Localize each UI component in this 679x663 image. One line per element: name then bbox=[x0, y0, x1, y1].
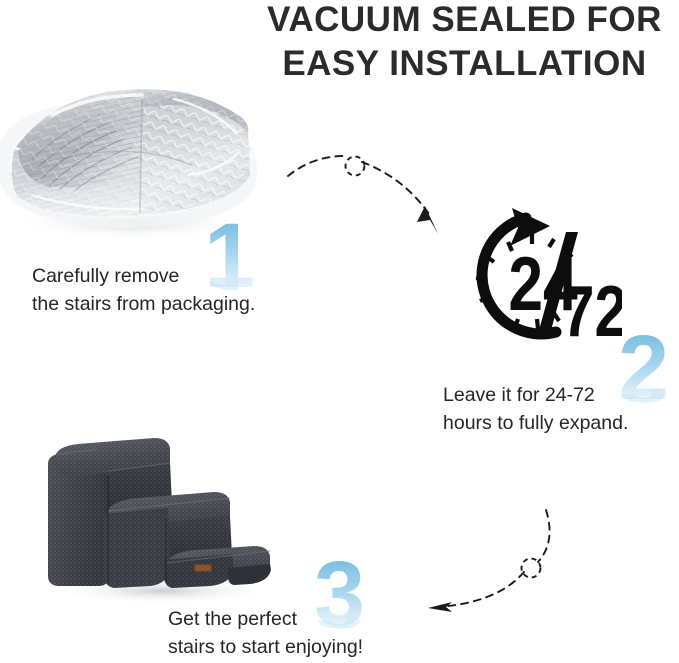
page-title: VACUUM SEALED FOR EASY INSTALLATION bbox=[250, 0, 679, 86]
step-2-caption-line-2: hours to fully expand. bbox=[443, 409, 628, 437]
product-brand-tag bbox=[194, 564, 212, 572]
clock-24-72-icon: 24 72 bbox=[446, 206, 622, 348]
step-2-caption-line-1: Leave it for 24-72 bbox=[443, 381, 628, 409]
step-3-caption-line-2: stairs to start enjoying! bbox=[168, 633, 363, 661]
step-2-caption: Leave it for 24-72 hours to fully expand… bbox=[443, 381, 628, 437]
step-3-caption: Get the perfect stairs to start enjoying… bbox=[168, 605, 363, 661]
step-3-caption-line-1: Get the perfect bbox=[168, 605, 363, 633]
pet-stairs-product-photo bbox=[38, 418, 276, 604]
dashed-arrow-step2-to-step3 bbox=[428, 508, 588, 620]
page-title-line-2: EASY INSTALLATION bbox=[250, 42, 679, 86]
step-1-caption-line-1: Carefully remove bbox=[32, 262, 255, 290]
dashed-arrow-step1-to-step2 bbox=[286, 148, 456, 234]
svg-text:72: 72 bbox=[562, 270, 622, 348]
step-1-caption: Carefully remove the stairs from packagi… bbox=[32, 262, 255, 318]
infographic-canvas: VACUUM SEALED FOR EASY INSTALLATION bbox=[0, 0, 679, 663]
step-1-caption-line-2: the stairs from packaging. bbox=[32, 290, 255, 318]
page-title-line-1: VACUUM SEALED FOR bbox=[250, 0, 679, 42]
